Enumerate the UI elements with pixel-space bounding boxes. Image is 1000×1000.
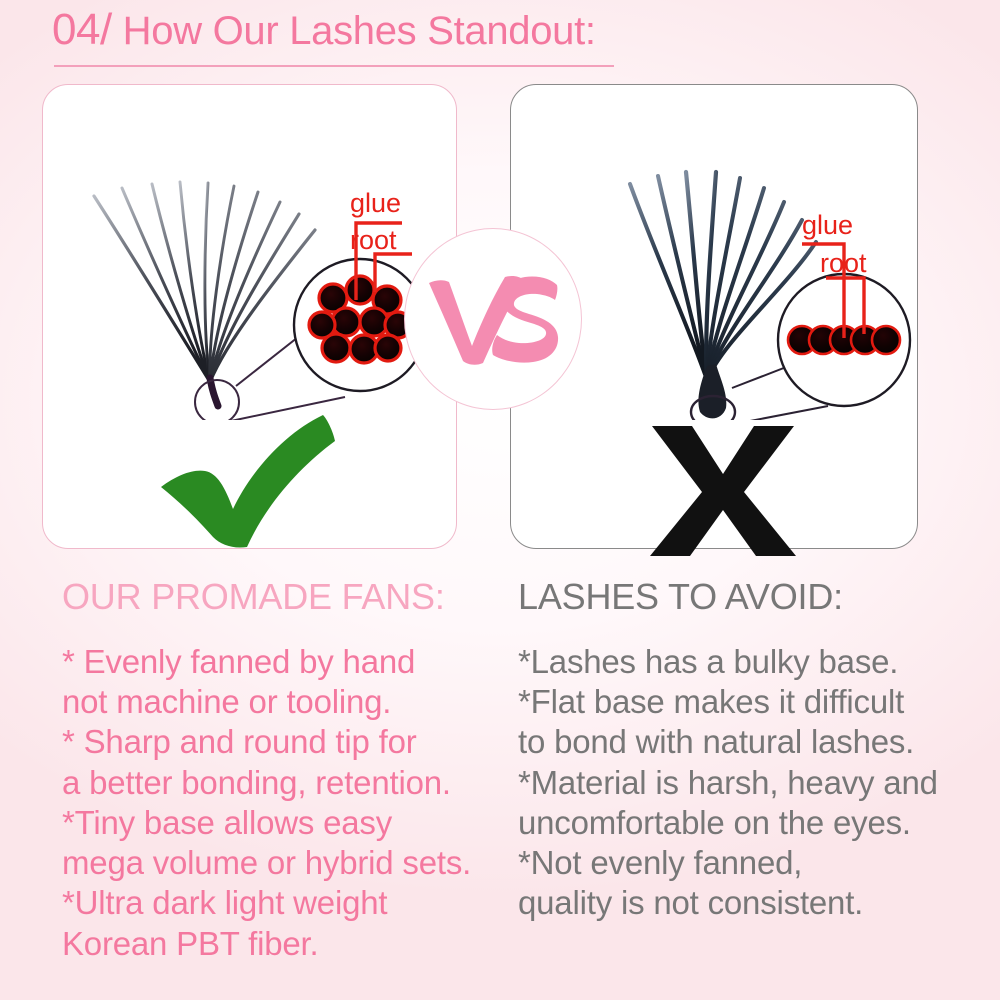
vs-label-strokes [429, 276, 558, 365]
list-item: *Tiny base allows easy [62, 803, 502, 843]
lash-diagram-avoid: glue root [612, 150, 932, 420]
lash-fibers [94, 182, 315, 382]
column-body-avoid: *Lashes has a bulky base. *Flat base mak… [518, 642, 978, 924]
list-item: *Flat base makes it difficult [518, 682, 978, 722]
list-item: quality is not consistent. [518, 883, 978, 923]
root-label: root [820, 248, 867, 278]
section-number: 04/ [52, 8, 112, 52]
list-item: * Sharp and round tip for [62, 722, 502, 762]
vs-badge [404, 228, 582, 410]
list-item: *Material is harsh, heavy and [518, 763, 978, 803]
text-column-avoid: LASHES TO AVOID: *Lashes has a bulky bas… [518, 578, 978, 924]
infographic-page: 04/ How Our Lashes Standout: [0, 0, 1000, 1000]
magnifier-leader-lower [724, 406, 828, 420]
column-body-promade: * Evenly fanned by hand not machine or t… [62, 642, 502, 964]
text-column-promade: OUR PROMADE FANS: * Evenly fanned by han… [62, 578, 502, 964]
lash-base-stem [210, 378, 218, 406]
fiber-cross-section-cluster [309, 276, 411, 363]
title-underline-rule [54, 65, 614, 67]
page-title: How Our Lashes Standout: [123, 11, 596, 51]
list-item: *Not evenly fanned, [518, 843, 978, 883]
green-check-icon [155, 415, 345, 555]
header-title-row: 04/ How Our Lashes Standout: [52, 8, 672, 52]
page-header: 04/ How Our Lashes Standout: [52, 8, 672, 52]
list-item: not machine or tooling. [62, 682, 502, 722]
list-item: a better bonding, retention. [62, 763, 502, 803]
column-heading-promade: OUR PROMADE FANS: [62, 578, 502, 616]
glue-label: glue [802, 210, 853, 240]
list-item: uncomfortable on the eyes. [518, 803, 978, 843]
list-item: to bond with natural lashes. [518, 722, 978, 762]
list-item: * Evenly fanned by hand [62, 642, 502, 682]
root-label: root [350, 225, 397, 255]
list-item: mega volume or hybrid sets. [62, 843, 502, 883]
column-heading-avoid: LASHES TO AVOID: [518, 578, 978, 616]
black-x-icon [648, 420, 798, 565]
list-item: *Ultra dark light weight [62, 883, 502, 923]
glue-label: glue [350, 188, 401, 218]
lash-diagram-promade: glue root [60, 150, 420, 420]
list-item: *Lashes has a bulky base. [518, 642, 978, 682]
list-item: Korean PBT fiber. [62, 924, 502, 964]
